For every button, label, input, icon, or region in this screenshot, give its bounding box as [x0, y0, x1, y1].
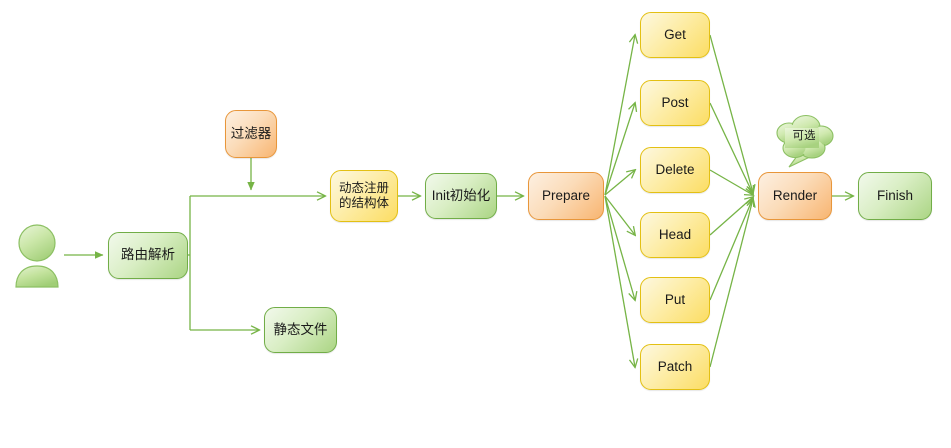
edge-post-to-render	[710, 103, 753, 194]
node-patch[interactable]: Patch	[640, 344, 710, 390]
diagram-canvas: 可选 路由解析 过滤器 静态文件 动态注册 的结构体 Init初始化 Prepa…	[0, 0, 951, 448]
edge-patch-to-render	[710, 199, 753, 367]
edge-get-to-render	[710, 35, 753, 193]
edge-put-to-render	[710, 198, 753, 300]
node-finish[interactable]: Finish	[858, 172, 932, 220]
edge-head-to-render	[710, 197, 753, 235]
node-filter[interactable]: 过滤器	[225, 110, 277, 158]
node-get[interactable]: Get	[640, 12, 710, 58]
node-prepare[interactable]: Prepare	[528, 172, 604, 220]
edge-prepare-to-get	[605, 35, 635, 195]
edge-prepare-to-delete	[605, 170, 635, 195]
node-head[interactable]: Head	[640, 212, 710, 258]
edge-delete-to-render	[710, 170, 753, 195]
user-actor-icon	[16, 225, 58, 287]
optional-cloud-label: 可选	[781, 127, 827, 143]
node-init[interactable]: Init初始化	[425, 173, 497, 219]
node-post[interactable]: Post	[640, 80, 710, 126]
node-struct[interactable]: 动态注册 的结构体	[330, 170, 398, 222]
node-render[interactable]: Render	[758, 172, 832, 220]
node-route[interactable]: 路由解析	[108, 232, 188, 279]
edge-prepare-to-put	[605, 196, 635, 300]
node-static[interactable]: 静态文件	[264, 307, 337, 353]
edge-prepare-to-head	[605, 196, 635, 235]
node-delete[interactable]: Delete	[640, 147, 710, 193]
diagram-edges	[0, 0, 951, 448]
edge-prepare-to-post	[605, 103, 635, 195]
edge-prepare-to-patch	[605, 196, 635, 367]
node-put[interactable]: Put	[640, 277, 710, 323]
